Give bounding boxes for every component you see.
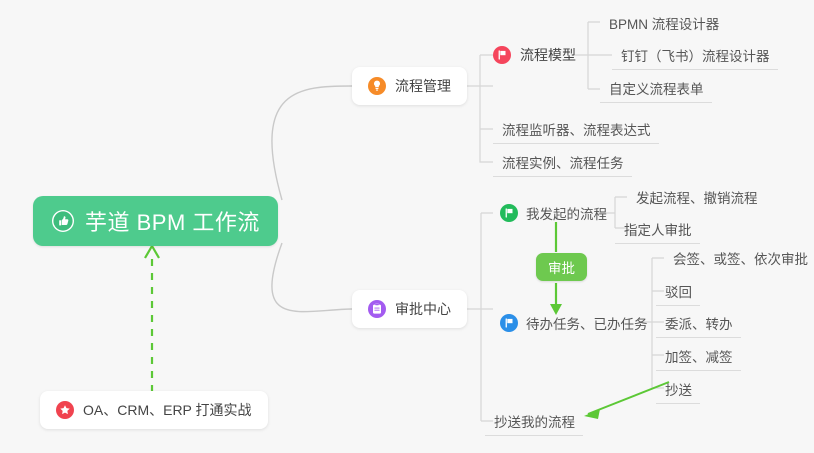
leaf-dingtalk-feishu-designer[interactable]: 钉钉（飞书）流程设计器 [612, 40, 778, 70]
branch-process-management-label: 流程管理 [395, 76, 451, 96]
branch-process-management[interactable]: 流程管理 [352, 67, 467, 105]
flag-circle-icon [500, 204, 518, 222]
arrow-cc-link-head [584, 409, 600, 419]
branch-approval-center[interactable]: 审批中心 [352, 290, 467, 328]
leaf-assignee-approval[interactable]: 指定人审批 [615, 214, 700, 244]
wire-root-to-approval-center [272, 243, 352, 312]
root-label: 芋道 BPM 工作流 [85, 205, 260, 237]
leaf-reject-label: 驳回 [665, 281, 692, 301]
lightbulb-circle-icon [368, 77, 386, 95]
leaf-multi-sign[interactable]: 会签、或签、依次审批 [664, 243, 814, 273]
badge-approval: 审批 [536, 253, 587, 281]
thumbs-up-circle-icon [51, 209, 75, 233]
star-circle-icon [56, 401, 74, 419]
leaf-assignee-approval-label: 指定人审批 [624, 219, 692, 239]
leaf-start-cancel-process-label: 发起流程、撤销流程 [636, 187, 758, 207]
leaf-cc[interactable]: 抄送 [656, 374, 700, 404]
node-process-model[interactable]: 流程模型 [493, 40, 584, 70]
leaf-add-remove-sign-label: 加签、减签 [665, 346, 733, 366]
wire-root-to-process-management [272, 86, 352, 200]
leaf-custom-process-form[interactable]: 自定义流程表单 [600, 73, 712, 103]
node-my-initiated-process-label: 我发起的流程 [526, 203, 607, 223]
leaf-listener-expression[interactable]: 流程监听器、流程表达式 [493, 114, 659, 144]
leaf-bpmn-designer-label: BPMN 流程设计器 [609, 13, 719, 33]
mindmap-canvas: 芋道 BPM 工作流 流程管理 流程模型 BPMN 流程设计器 钉钉（飞书 [0, 0, 814, 453]
leaf-listener-expression-label: 流程监听器、流程表达式 [502, 119, 651, 139]
node-process-model-label: 流程模型 [520, 45, 576, 65]
node-todo-done-task[interactable]: 待办任务、已办任务 [493, 308, 656, 338]
leaf-delegate-transfer[interactable]: 委派、转办 [656, 308, 741, 338]
leaf-multi-sign-label: 会签、或签、依次审批 [673, 248, 808, 268]
leaf-reject[interactable]: 驳回 [656, 276, 700, 306]
leaf-add-remove-sign[interactable]: 加签、减签 [656, 341, 741, 371]
leaf-cc-to-me-label: 抄送我的流程 [494, 411, 575, 431]
clipboard-circle-icon [368, 300, 386, 318]
footnote-label: OA、CRM、ERP 打通实战 [83, 400, 252, 420]
leaf-delegate-transfer-label: 委派、转办 [665, 313, 733, 333]
arrow-footnote-head [145, 246, 159, 258]
node-my-initiated-process[interactable]: 我发起的流程 [493, 198, 615, 228]
wire-process-management-bracket [462, 55, 493, 162]
flag-circle-icon [500, 314, 518, 332]
leaf-custom-process-form-label: 自定义流程表单 [609, 78, 704, 98]
branch-approval-center-label: 审批中心 [395, 299, 451, 319]
flag-circle-icon [493, 46, 511, 64]
badge-approval-label: 审批 [548, 257, 575, 277]
leaf-cc-to-me[interactable]: 抄送我的流程 [485, 406, 583, 436]
leaf-dingtalk-feishu-designer-label: 钉钉（飞书）流程设计器 [621, 45, 770, 65]
leaf-instance-task-label: 流程实例、流程任务 [502, 152, 624, 172]
root-node[interactable]: 芋道 BPM 工作流 [33, 196, 278, 246]
footnote-node[interactable]: OA、CRM、ERP 打通实战 [40, 391, 268, 429]
leaf-start-cancel-process[interactable]: 发起流程、撤销流程 [627, 182, 766, 212]
leaf-instance-task[interactable]: 流程实例、流程任务 [493, 147, 632, 177]
leaf-cc-label: 抄送 [665, 379, 692, 399]
node-todo-done-task-label: 待办任务、已办任务 [526, 313, 648, 333]
leaf-bpmn-designer[interactable]: BPMN 流程设计器 [600, 8, 727, 38]
